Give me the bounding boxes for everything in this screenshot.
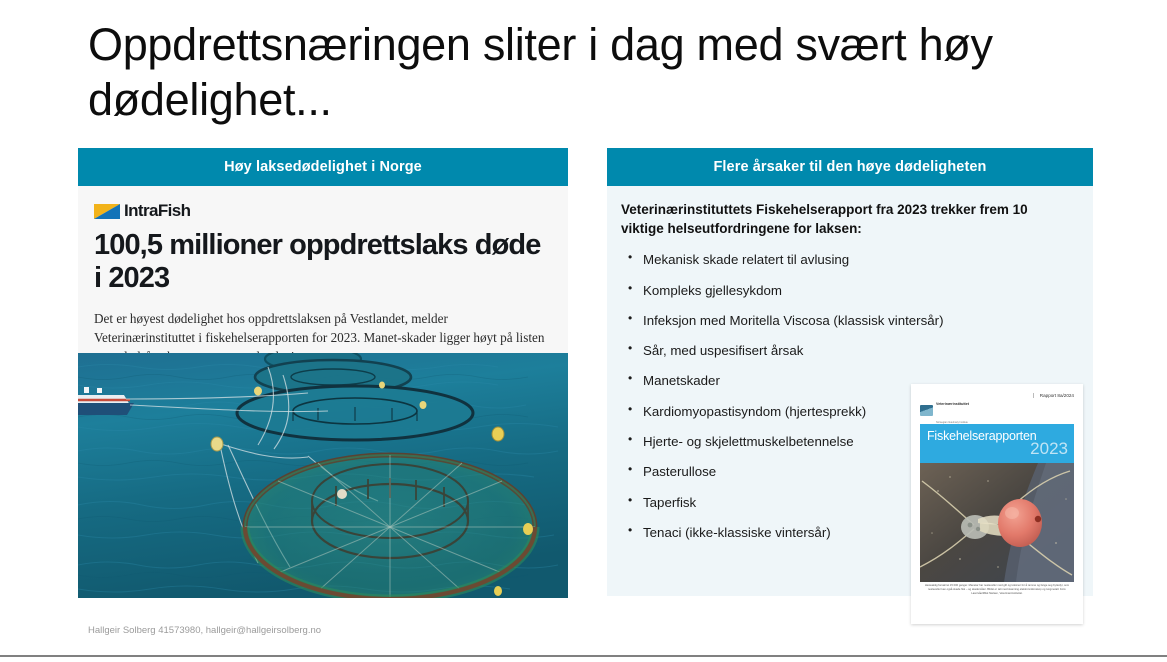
salmon-farm-photo [78, 353, 568, 598]
right-panel-header: Flere årsaker til den høye dødeligheten [607, 148, 1093, 186]
slide-footer: Hallgeir Solberg 41573980, hallgeir@hall… [88, 625, 321, 636]
report-number: Rapport 8a/2024 [1033, 393, 1074, 398]
intrafish-article-card: IntraFish 100,5 millioner oppdrettslaks … [78, 186, 568, 598]
veterinaerinstituttet-logo-text: Veterinærinstituttet Norwegian Veterinar… [936, 392, 969, 428]
right-panel: Flere årsaker til den høye dødeligheten … [607, 148, 1093, 596]
salmon-farm-photo-graphic [78, 353, 568, 598]
report-cover-caption: Hesteaktig forstørret 15 000 ganger. Man… [920, 584, 1074, 596]
page-title: Oppdrettsnæringen sliter i dag med svært… [88, 18, 1018, 128]
report-year: 2023 [1030, 440, 1068, 457]
veterinaerinstituttet-logo-icon [920, 405, 933, 416]
intrafish-flag-icon [94, 204, 120, 219]
jellyfish-microscopy-image [920, 463, 1074, 582]
report-title-band: Fiskehelserapporten 2023 [920, 424, 1074, 463]
causes-intro: Veterinærinstituttets Fiskehelserapport … [621, 200, 1061, 238]
left-panel: Høy laksedødelighet i Norge IntraFish 10… [78, 148, 568, 598]
list-item: Kompleks gjellesykdom [621, 282, 1077, 299]
list-item: Infeksjon med Moritella Viscosa (klassis… [621, 312, 1077, 329]
main-net-pen [245, 455, 535, 598]
causes-body: Veterinærinstituttets Fiskehelserapport … [607, 186, 1093, 596]
intrafish-logo: IntraFish [94, 200, 552, 222]
presentation-slide: Oppdrettsnæringen sliter i dag med svært… [0, 0, 1167, 662]
report-cover-top: Veterinærinstituttet Norwegian Veterinar… [911, 384, 1083, 428]
bottom-divider [0, 655, 1167, 657]
veterinaerinstituttet-logo: Veterinærinstituttet Norwegian Veterinar… [920, 392, 1033, 428]
list-item: Sår, med uspesifisert årsak [621, 342, 1077, 359]
intrafish-logo-text: IntraFish [124, 201, 190, 221]
jellyfish-microscopy-graphic [920, 463, 1074, 582]
report-title: Fiskehelserapporten [927, 429, 1036, 443]
report-cover-art: Fiskehelserapporten 2023 [920, 424, 1074, 582]
fiskehelserapporten-cover: Veterinærinstituttet Norwegian Veterinar… [911, 384, 1083, 624]
list-item: Mekanisk skade relatert til avlusing [621, 251, 1077, 268]
left-panel-header: Høy laksedødelighet i Norge [78, 148, 568, 186]
article-headline: 100,5 millioner oppdrettslaks døde i 202… [94, 229, 552, 295]
